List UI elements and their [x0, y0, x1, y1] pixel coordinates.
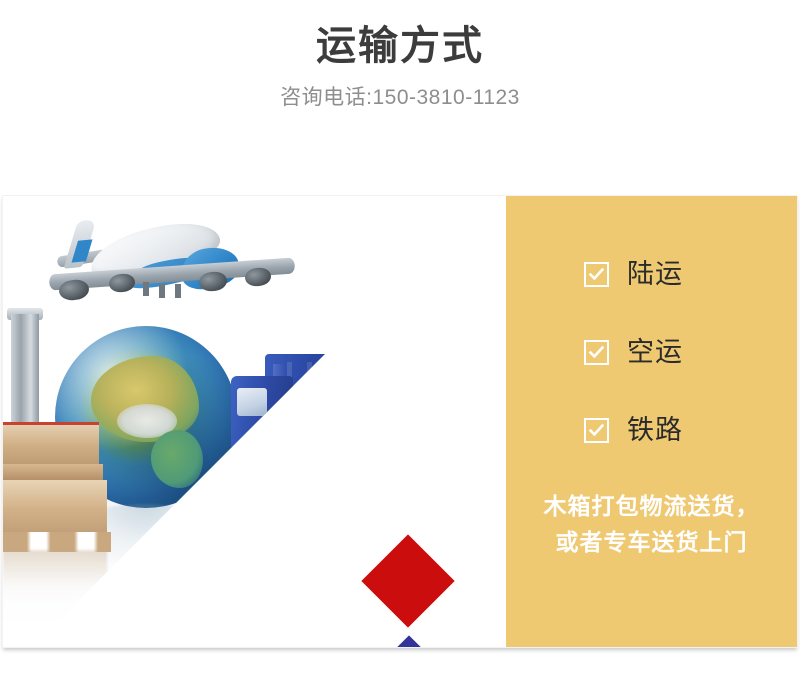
- truck-container: [265, 354, 375, 486]
- box-reflection: [289, 554, 359, 602]
- shipping-option-label: 空运: [627, 337, 683, 367]
- shipping-option-land[interactable]: 陆运: [584, 254, 797, 294]
- airplane-icon: [31, 214, 293, 324]
- truck-windshield: [237, 388, 267, 416]
- cargo-box-icon: [421, 426, 455, 480]
- truck-wheel: [239, 468, 269, 498]
- shipping-note-line-2: 或者专车送货上门: [520, 524, 783, 560]
- cargo-box-icon: [335, 392, 381, 436]
- blue-diamond-decor: [321, 635, 496, 647]
- logistics-photo-pane: [3, 196, 506, 647]
- pallet-box-lower: [3, 480, 107, 532]
- checkbox-checked-icon[interactable]: [584, 418, 609, 443]
- shipping-option-air[interactable]: 空运: [584, 332, 797, 372]
- shipping-option-rail[interactable]: 铁路: [584, 410, 797, 450]
- pallet-box-upper: [3, 422, 99, 467]
- checkbox-checked-icon[interactable]: [584, 340, 609, 365]
- pallet-legs: [3, 532, 111, 552]
- truck-wheel: [293, 472, 323, 502]
- truck-cargo-interior: [321, 358, 373, 484]
- cargo-box-icon: [381, 396, 421, 438]
- truck-reflection: [243, 496, 373, 574]
- pallet-base: [3, 464, 103, 480]
- checkbox-checked-icon[interactable]: [584, 262, 609, 287]
- cargo-box-icon: [383, 440, 427, 488]
- pallet-reflection: [3, 550, 107, 600]
- shipping-options-list: 陆运 空运 铁路: [506, 254, 797, 450]
- shipping-note: 木箱打包物流送货， 或者专车送货上门: [506, 488, 797, 560]
- contact-phone-text: 咨询电话:150-3810-1123: [0, 70, 800, 112]
- forklift-mast: [11, 314, 39, 422]
- truck-rib: [307, 362, 312, 480]
- shipping-note-line-1: 木箱打包物流送货，: [520, 488, 783, 524]
- content-card: 陆运 空运 铁路 木箱打包物流送货，: [2, 195, 798, 648]
- shipping-option-label: 陆运: [627, 259, 683, 289]
- cargo-box-icon: [355, 488, 401, 528]
- page-title: 运输方式: [0, 22, 800, 70]
- page-header: 运输方式 咨询电话:150-3810-1123: [0, 0, 800, 195]
- cargo-box-icon: [333, 436, 381, 486]
- shipping-options-pane: 陆运 空运 铁路 木箱打包物流送货，: [506, 196, 797, 647]
- red-diamond-decor: [361, 534, 454, 627]
- shipping-option-label: 铁路: [627, 415, 683, 445]
- cargo-box-icon: [289, 512, 341, 556]
- truck-rib: [327, 362, 332, 480]
